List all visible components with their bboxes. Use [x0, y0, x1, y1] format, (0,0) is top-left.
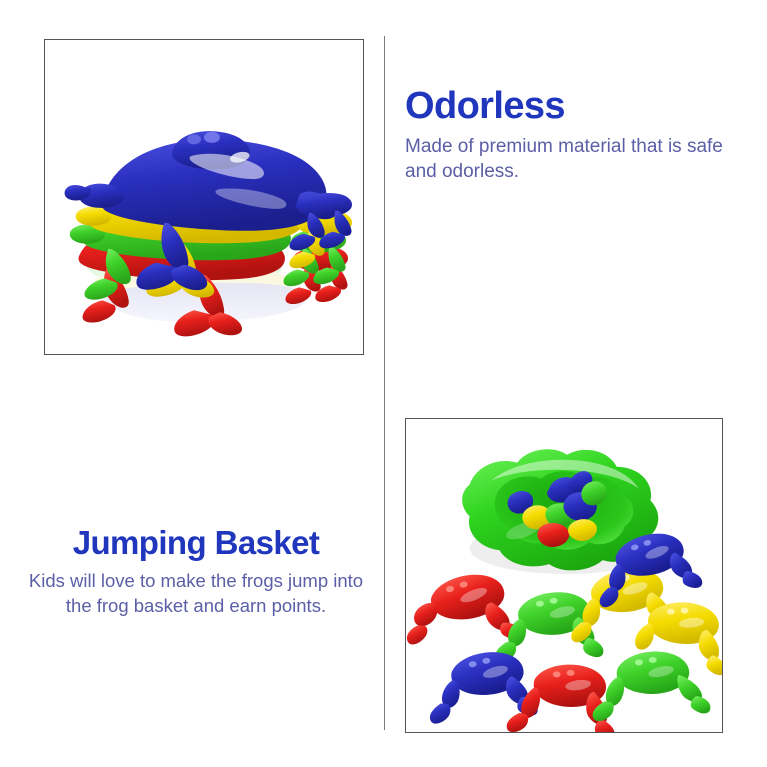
feature-title-jumping-basket: Jumping Basket	[22, 524, 370, 562]
feature-description-jumping-basket: Kids will love to make the frogs jump in…	[22, 568, 370, 618]
stacked-frogs-illustration	[45, 40, 363, 354]
product-feature-page: Odorless Made of premium material that i…	[0, 0, 767, 767]
feature-odorless: Odorless Made of premium material that i…	[405, 84, 745, 184]
frog-basket-stage	[406, 419, 722, 732]
feature-description-odorless: Made of premium material that is safe an…	[405, 134, 745, 184]
feature-jumping-basket: Jumping Basket Kids will love to make th…	[22, 524, 370, 618]
feature-title-odorless: Odorless	[405, 84, 745, 128]
stacked-frogs-stage	[45, 40, 363, 354]
frog-basket-illustration	[406, 419, 722, 732]
stacked-frogs-photo	[44, 39, 364, 355]
frog-basket-photo	[405, 418, 723, 733]
vertical-divider	[384, 36, 385, 730]
